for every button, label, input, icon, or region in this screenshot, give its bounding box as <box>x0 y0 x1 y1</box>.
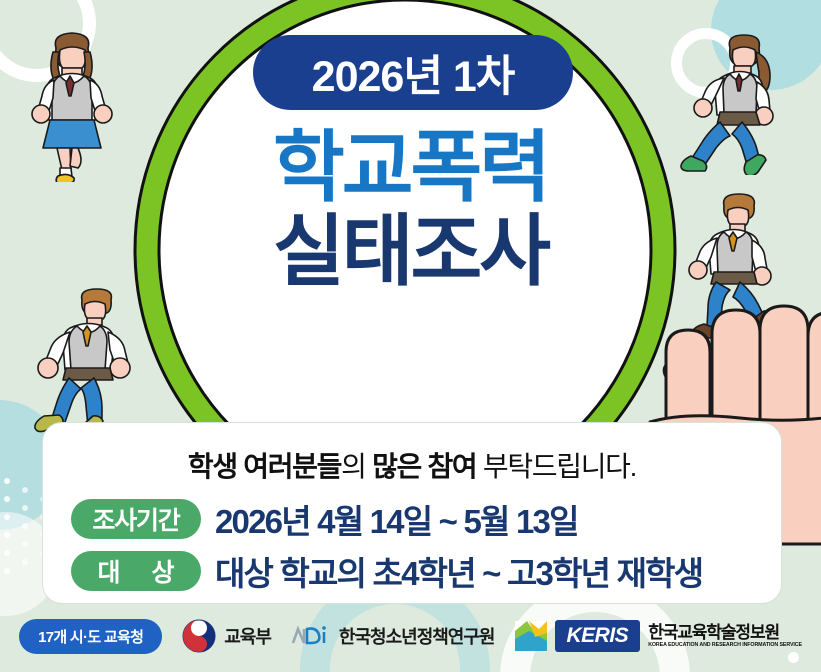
footer-logos: 17개 시·도 교육청 교육부 한국청소년정책연구원 <box>0 612 821 660</box>
poster-title: 학교폭력 실태조사 <box>0 128 821 290</box>
year-badge: 2026년 1차 <box>253 35 573 110</box>
survey-period-row: 조사기간 2026년 4월 14일 ~ 5월 13일 <box>71 495 578 543</box>
moe-logo-group: 교육부 <box>182 619 271 653</box>
info-panel: 학생 여러분들의 많은 참여 부탁드립니다. 조사기간 2026년 4월 14일… <box>42 422 782 604</box>
poster-root: 2026년 1차 학교폭력 실태조사 <box>0 0 821 672</box>
keris-wordmark: KERIS <box>555 620 641 652</box>
nypi-logo-group: 한국청소년정책연구원 <box>291 623 495 649</box>
title-line-2: 실태조사 <box>0 212 821 290</box>
taegeuk-icon <box>182 619 216 653</box>
nypi-label: 한국청소년정책연구원 <box>339 623 495 649</box>
survey-period-value: 2026년 4월 14일 ~ 5월 13일 <box>215 495 578 543</box>
survey-target-row: 대 상 대상 학교의 초4학년 ~ 고3학년 재학생 <box>71 547 702 595</box>
nypi-icon <box>291 624 331 648</box>
keris-english-label: KOREA EDUCATION AND RESEARCH INFORMATION… <box>648 642 802 648</box>
keris-korean-label: 한국교육학술정보원 <box>648 624 802 643</box>
headline-bold-1: 학생 여러분들 <box>188 451 341 482</box>
keris-korean-block: 한국교육학술정보원 KOREA EDUCATION AND RESEARCH I… <box>648 624 802 649</box>
keris-mark-icon <box>515 621 547 651</box>
survey-period-pill: 조사기간 <box>71 499 201 539</box>
region-offices-pill: 17개 시·도 교육청 <box>19 619 162 654</box>
title-line-1: 학교폭력 <box>0 128 821 206</box>
survey-target-value: 대상 학교의 초4학년 ~ 고3학년 재학생 <box>215 547 702 595</box>
headline-normal-1: 의 <box>341 451 372 482</box>
headline-bold-2: 많은 참여 <box>372 451 476 482</box>
walking-boy-student-illustration <box>22 288 147 440</box>
survey-target-pill: 대 상 <box>71 551 201 591</box>
moe-label: 교육부 <box>224 623 271 649</box>
keris-logo-group: KERIS 한국교육학술정보원 KOREA EDUCATION AND RESE… <box>515 620 802 652</box>
panel-headline: 학생 여러분들의 많은 참여 부탁드립니다. <box>43 445 781 485</box>
headline-normal-2: 부탁드립니다. <box>476 451 636 482</box>
